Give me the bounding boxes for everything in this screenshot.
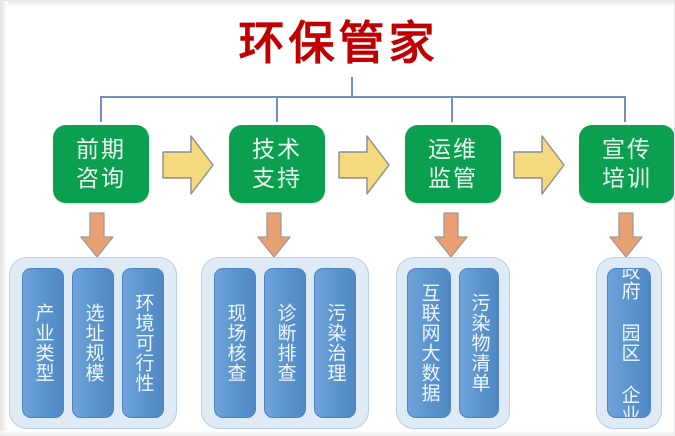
stage-box-publicity-training[interactable]: 宣传培训 (579, 125, 675, 203)
detail-bar[interactable]: 现场核查 (214, 268, 256, 418)
detail-bar-label: 产业类型 (33, 303, 54, 383)
detail-bar[interactable]: 政府 园区 企业 (607, 268, 651, 418)
detail-bar[interactable]: 选址规模 (72, 268, 114, 418)
detail-bar-label: 污染物清单 (468, 293, 489, 393)
detail-bar[interactable]: 产业类型 (22, 268, 64, 418)
stage-box-pre-consultation[interactable]: 前期咨询 (53, 125, 149, 203)
detail-bar[interactable]: 环境可行性 (122, 268, 164, 418)
group-publicity-training: 政府 园区 企业 (596, 257, 662, 429)
stage-label-line2: 支持 (252, 164, 302, 193)
connector-stem (351, 77, 353, 97)
group-pre-consultation: 产业类型选址规模环境可行性 (9, 257, 177, 429)
stage-box-om-supervision[interactable]: 运维监管 (405, 125, 501, 203)
detail-bar[interactable]: 污染物清单 (459, 268, 499, 418)
connector-drop-4 (624, 96, 626, 122)
group-technical-support: 现场核查诊断排查污染治理 (201, 257, 369, 429)
group-om-supervision: 互联网大数据污染物清单 (396, 257, 510, 429)
stage-label-line2: 咨询 (76, 164, 126, 193)
stage-box-technical-support[interactable]: 技术支持 (229, 125, 325, 203)
connector-drop-1 (100, 96, 102, 122)
connector-drop-3 (451, 96, 453, 122)
detail-bar-label: 政府 园区 企业 (619, 268, 640, 418)
down-arrow-icon (256, 211, 292, 259)
stage-label-line2: 监管 (428, 164, 478, 193)
stage-label-line1: 技术 (252, 135, 302, 164)
down-arrow-icon (608, 211, 644, 259)
connector-drop-2 (276, 96, 278, 122)
diagram-title: 环保管家 (1, 15, 675, 71)
detail-bar-label: 污染治理 (325, 303, 346, 383)
connector-horizontal-bar (100, 96, 626, 98)
down-arrow-icon (433, 211, 469, 259)
stage-label-line2: 培训 (602, 164, 652, 193)
detail-bar-label: 环境可行性 (133, 293, 154, 393)
stage-label-line1: 运维 (428, 135, 478, 164)
detail-bar[interactable]: 互联网大数据 (407, 268, 451, 418)
stage-label-line1: 前期 (76, 135, 126, 164)
page-edge-top (1, 1, 675, 6)
diagram-canvas: 环保管家 前期咨询技术支持运维监管宣传培训 产业类型选址规模环境可行性现场核查诊… (0, 0, 675, 436)
detail-bar-label: 选址规模 (83, 303, 104, 383)
detail-bar-label: 现场核查 (225, 303, 246, 383)
right-arrow-icon (512, 134, 566, 196)
stage-label-line1: 宣传 (602, 135, 652, 164)
page-edge-bottom (1, 431, 675, 435)
down-arrow-icon (79, 211, 115, 259)
detail-bar-label: 互联网大数据 (418, 283, 439, 403)
right-arrow-icon (337, 134, 391, 196)
detail-bar[interactable]: 诊断排查 (264, 268, 306, 418)
detail-bar-label: 诊断排查 (275, 303, 296, 383)
detail-bar[interactable]: 污染治理 (314, 268, 356, 418)
right-arrow-icon (161, 134, 215, 196)
